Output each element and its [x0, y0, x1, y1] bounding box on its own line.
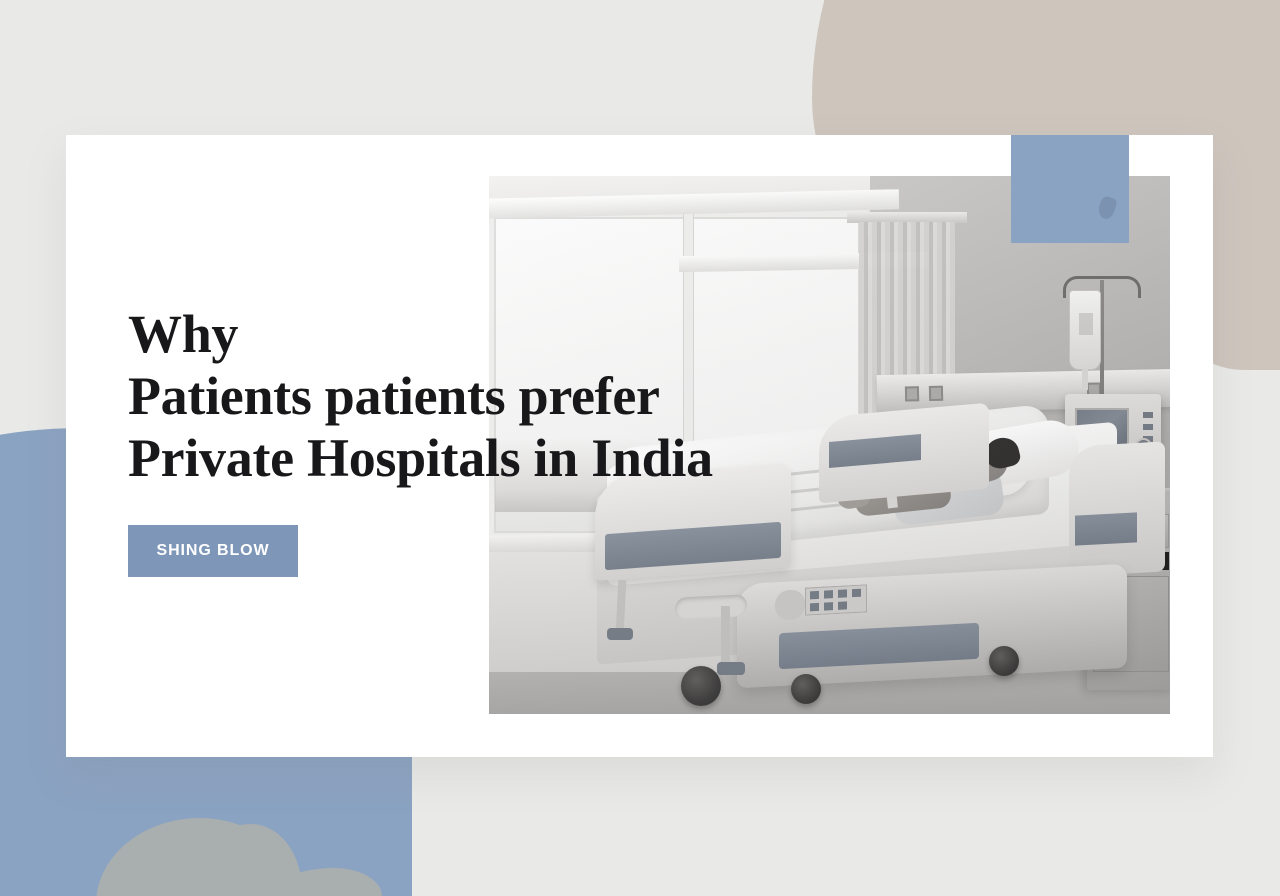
- headline-line-3: Private Hospitals in India: [128, 427, 768, 489]
- photo-pump-button: [1143, 412, 1153, 418]
- photo-control-indicator: [824, 590, 833, 598]
- photo-control-indicator: [810, 591, 819, 599]
- page-title: Why Patients patients prefer Private Hos…: [128, 303, 768, 489]
- photo-control-indicator: [824, 602, 833, 610]
- photo-bed-control-panel: [805, 584, 867, 615]
- photo-pump-button: [1143, 424, 1153, 430]
- photo-bed-wheel: [791, 674, 821, 704]
- accent-square-mark: [1096, 195, 1118, 221]
- photo-wall-socket: [929, 386, 943, 401]
- photo-control-indicator: [852, 589, 861, 597]
- blue-accent-square: [1011, 135, 1129, 243]
- photo-control-indicator: [838, 589, 847, 597]
- photo-iv-drip-chamber: [1082, 368, 1088, 390]
- slide-canvas: Why Patients patients prefer Private Hos…: [0, 0, 1280, 896]
- photo-bed-wheel: [681, 666, 721, 706]
- photo-bed-caster: [607, 628, 633, 640]
- photo-bed-leg: [721, 606, 730, 662]
- photo-bed-wheel: [989, 646, 1019, 676]
- headline-line-1: Why: [128, 303, 768, 365]
- photo-control-indicator: [810, 603, 819, 611]
- photo-bed-caster: [717, 662, 745, 675]
- photo-bed-rail-head-accent: [1075, 512, 1137, 545]
- photo-iv-bag: [1069, 290, 1101, 370]
- photo-bed-base-recess: [675, 594, 747, 620]
- photo-bed-rail-head: [1069, 441, 1165, 576]
- cta-button[interactable]: SHING BLOW: [128, 525, 298, 577]
- photo-control-indicator: [838, 601, 847, 609]
- photo-wall-socket: [905, 386, 919, 401]
- headline-line-2: Patients patients prefer: [128, 365, 768, 427]
